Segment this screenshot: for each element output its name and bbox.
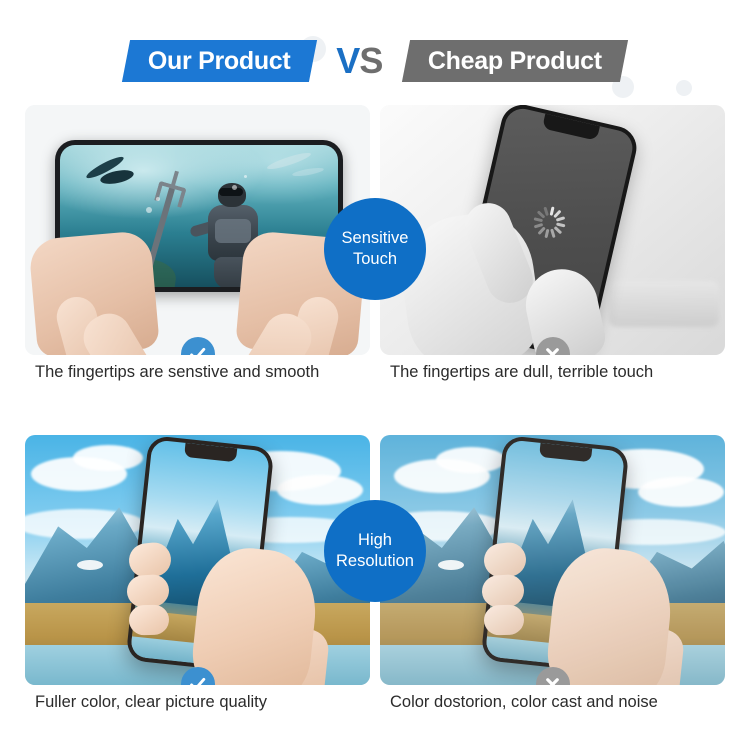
feature-badge-sensitive-touch: Sensitive Touch — [324, 198, 426, 300]
cloud — [277, 475, 363, 505]
decorative-bubble — [676, 80, 692, 96]
cloud — [638, 477, 724, 507]
our-product-badge: Our Product — [122, 40, 317, 82]
comparison-infographic: Our Product VS Cheap Product — [0, 0, 750, 750]
feature-line-2: Touch — [353, 249, 397, 270]
check-icon — [188, 675, 207, 686]
check-icon — [188, 345, 207, 356]
cloud — [73, 445, 143, 471]
cheap-product-badge: Cheap Product — [402, 40, 628, 82]
vs-letter-v: V — [336, 40, 359, 81]
vs-letter-s: S — [359, 40, 382, 81]
phone-notch — [542, 114, 600, 141]
phone-notch — [539, 443, 592, 462]
feature-line-2: Resolution — [336, 551, 414, 572]
left-hand — [28, 230, 160, 355]
panel-image-touch-good — [25, 105, 370, 355]
panel-resolution-good: Fuller color, clear picture quality — [25, 435, 370, 725]
feature-badge-high-resolution: High Resolution — [324, 500, 426, 602]
grayscale-hands-scene — [380, 105, 725, 355]
cloud — [436, 447, 506, 473]
panel-image-resolution-good — [25, 435, 370, 685]
our-product-label: Our Product — [148, 47, 291, 76]
feature-line-1: Sensitive — [342, 228, 409, 249]
cheap-product-label: Cheap Product — [428, 47, 602, 76]
panel-image-resolution-bad — [380, 435, 725, 685]
fish-icon — [292, 166, 325, 177]
background-diver — [82, 161, 152, 195]
snow-cap — [77, 560, 103, 570]
caption-resolution-good: Fuller color, clear picture quality — [35, 693, 375, 713]
phone-notch — [184, 443, 237, 462]
finger — [483, 604, 524, 635]
diver-mask — [219, 188, 243, 196]
panel-resolution-bad: Color dostorion, color cast and noise — [380, 435, 725, 725]
panel-touch-good: The fingertips are senstive and smooth — [25, 105, 370, 395]
close-icon — [543, 345, 562, 356]
air-bubble — [232, 185, 237, 190]
panel-touch-bad: The fingertips are dull, terrible touch — [380, 105, 725, 395]
background-blur-object — [609, 281, 719, 327]
loading-spinner-icon — [529, 202, 570, 243]
caption-resolution-bad: Color dostorion, color cast and noise — [390, 693, 730, 713]
caption-touch-good: The fingertips are senstive and smooth — [35, 363, 375, 383]
finger — [128, 604, 169, 635]
caption-touch-bad: The fingertips are dull, terrible touch — [390, 363, 730, 383]
snow-cap — [438, 560, 464, 570]
close-icon — [543, 675, 562, 686]
panel-image-touch-bad — [380, 105, 725, 355]
vs-separator: VS — [336, 43, 382, 79]
header-bar: Our Product VS Cheap Product — [0, 30, 750, 92]
mountain-scene-vivid — [25, 435, 370, 685]
underwater-game-scene — [25, 105, 370, 355]
mountain-scene-dull — [380, 435, 725, 685]
air-bubble — [156, 197, 160, 201]
air-bubble — [244, 175, 247, 178]
air-bubble — [146, 207, 152, 213]
feature-line-1: High — [358, 530, 392, 551]
diver-vest — [215, 219, 251, 243]
